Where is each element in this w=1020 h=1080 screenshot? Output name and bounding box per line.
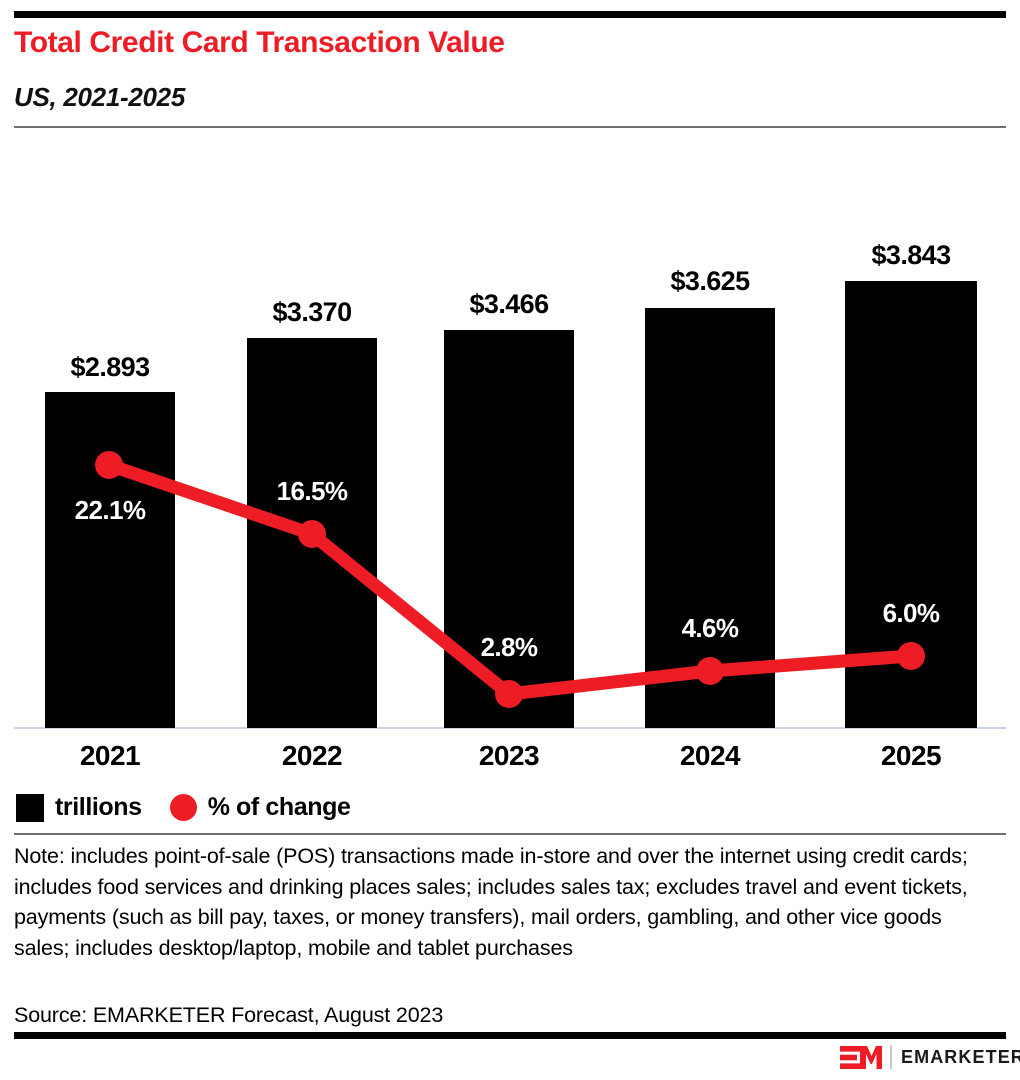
chart-legend: trillions % of change	[16, 793, 351, 822]
bottom-divider	[14, 1032, 1006, 1039]
top-divider	[14, 11, 1006, 18]
x-axis-line	[14, 727, 1006, 729]
logo-divider	[890, 1045, 892, 1069]
footer-logo[interactable]: EMARKETER	[840, 1042, 1020, 1072]
chart-page: Total Credit Card Transaction Value US, …	[0, 0, 1020, 1080]
brand-name: EMARKETER	[901, 1047, 1020, 1068]
chart-source: Source: EMARKETER Forecast, August 2023	[14, 1001, 994, 1029]
legend-label-trillions: trillions	[55, 793, 142, 822]
bar-2023	[444, 330, 574, 728]
notes-divider	[14, 833, 1006, 835]
data-point-2025	[897, 642, 925, 670]
bar-value-label-2025: $3.843	[801, 240, 1020, 271]
data-point-2023	[495, 680, 523, 708]
black-square-icon	[16, 794, 44, 822]
x-axis-label-2024: 2024	[600, 740, 820, 772]
chart-note: Note: includes point-of-sale (POS) trans…	[14, 841, 994, 963]
bar-value-label-2022: $3.370	[202, 297, 422, 328]
bar-value-label-2023: $3.466	[399, 289, 619, 320]
bar-2025	[845, 281, 977, 728]
legend-label-percent-change: % of change	[208, 793, 351, 822]
legend-item-trillions[interactable]: trillions	[16, 793, 142, 822]
percent-label-2021: 22.1%	[0, 495, 220, 526]
x-axis-label-2021: 2021	[0, 740, 220, 772]
x-axis-label-2023: 2023	[399, 740, 619, 772]
bar-value-label-2021: $2.893	[0, 352, 220, 383]
chart-subtitle: US, 2021-2025	[14, 82, 974, 112]
data-point-2022	[298, 520, 326, 548]
percent-label-2022: 16.5%	[202, 476, 422, 507]
data-point-2024	[696, 657, 724, 685]
bar-value-label-2024: $3.625	[600, 266, 820, 297]
x-axis-label-2022: 2022	[202, 740, 422, 772]
percent-label-2023: 2.8%	[399, 632, 619, 663]
em-logo-icon	[840, 1045, 882, 1070]
percent-label-2024: 4.6%	[600, 613, 820, 644]
x-axis-label-2025: 2025	[801, 740, 1020, 772]
bar-2024	[645, 308, 775, 728]
bar-2022	[247, 338, 377, 728]
bar-2021	[45, 392, 175, 728]
percent-label-2025: 6.0%	[801, 598, 1020, 629]
chart-title: Total Credit Card Transaction Value	[14, 26, 974, 60]
legend-item-percent-change[interactable]: % of change	[170, 793, 351, 822]
percent-change-line	[109, 465, 911, 694]
data-point-2021	[95, 451, 123, 479]
red-circle-icon	[170, 794, 197, 821]
header-divider	[14, 126, 1006, 128]
